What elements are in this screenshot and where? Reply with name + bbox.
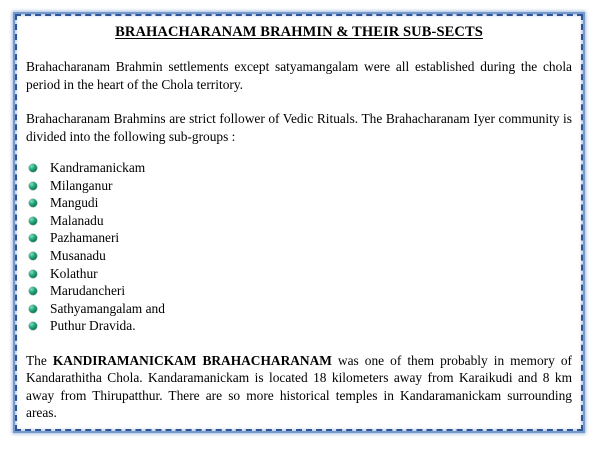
- list-item: Kandramanickam: [28, 159, 572, 177]
- green-sphere-bullet-icon: [29, 322, 37, 330]
- green-sphere-bullet-icon: [29, 164, 37, 172]
- page-title: BRAHACHARANAM BRAHMIN & THEIR SUB-SECTS: [26, 24, 572, 41]
- list-item-label: Sathyamangalam and: [50, 301, 165, 316]
- sub-sects-list: Kandramanickam Milanganur Mangudi Malana…: [26, 159, 572, 335]
- list-item: Musanadu: [28, 247, 572, 265]
- list-item-label: Musanadu: [50, 248, 106, 263]
- list-item-label: Marudancheri: [50, 283, 125, 298]
- list-item: Pazhamaneri: [28, 229, 572, 247]
- list-item: Puthur Dravida.: [28, 317, 572, 335]
- list-item: Sathyamangalam and: [28, 300, 572, 318]
- green-sphere-bullet-icon: [29, 182, 37, 190]
- sub-groups-intro-paragraph: Brahacharanam Brahmins are strict follow…: [26, 110, 572, 145]
- list-item: Malanadu: [28, 212, 572, 230]
- list-item: Milanganur: [28, 177, 572, 195]
- green-sphere-bullet-icon: [29, 234, 37, 242]
- green-sphere-bullet-icon: [29, 305, 37, 313]
- closing-paragraph: The KANDIRAMANICKAM BRAHACHARANAM was on…: [26, 352, 572, 422]
- list-item-label: Pazhamaneri: [50, 230, 119, 245]
- list-item-label: Mangudi: [50, 195, 98, 210]
- list-item-label: Milanganur: [50, 178, 112, 193]
- closing-emphasis-text: KANDIRAMANICKAM BRAHACHARANAM: [53, 353, 332, 368]
- list-item: Marudancheri: [28, 282, 572, 300]
- green-sphere-bullet-icon: [29, 217, 37, 225]
- list-item: Mangudi: [28, 194, 572, 212]
- green-sphere-bullet-icon: [29, 199, 37, 207]
- green-sphere-bullet-icon: [29, 287, 37, 295]
- closing-prefix-text: The: [26, 353, 53, 368]
- list-item-label: Puthur Dravida.: [50, 318, 136, 333]
- document-content: BRAHACHARANAM BRAHMIN & THEIR SUB-SECTS …: [22, 19, 576, 423]
- list-item-label: Kandramanickam: [50, 160, 145, 175]
- green-sphere-bullet-icon: [29, 252, 37, 260]
- list-item: Kolathur: [28, 265, 572, 283]
- intro-paragraph: Brahacharanam Brahmin settlements except…: [26, 58, 572, 93]
- green-sphere-bullet-icon: [29, 270, 37, 278]
- document-page: BRAHACHARANAM BRAHMIN & THEIR SUB-SECTS …: [0, 0, 600, 450]
- list-item-label: Malanadu: [50, 213, 104, 228]
- list-item-label: Kolathur: [50, 266, 98, 281]
